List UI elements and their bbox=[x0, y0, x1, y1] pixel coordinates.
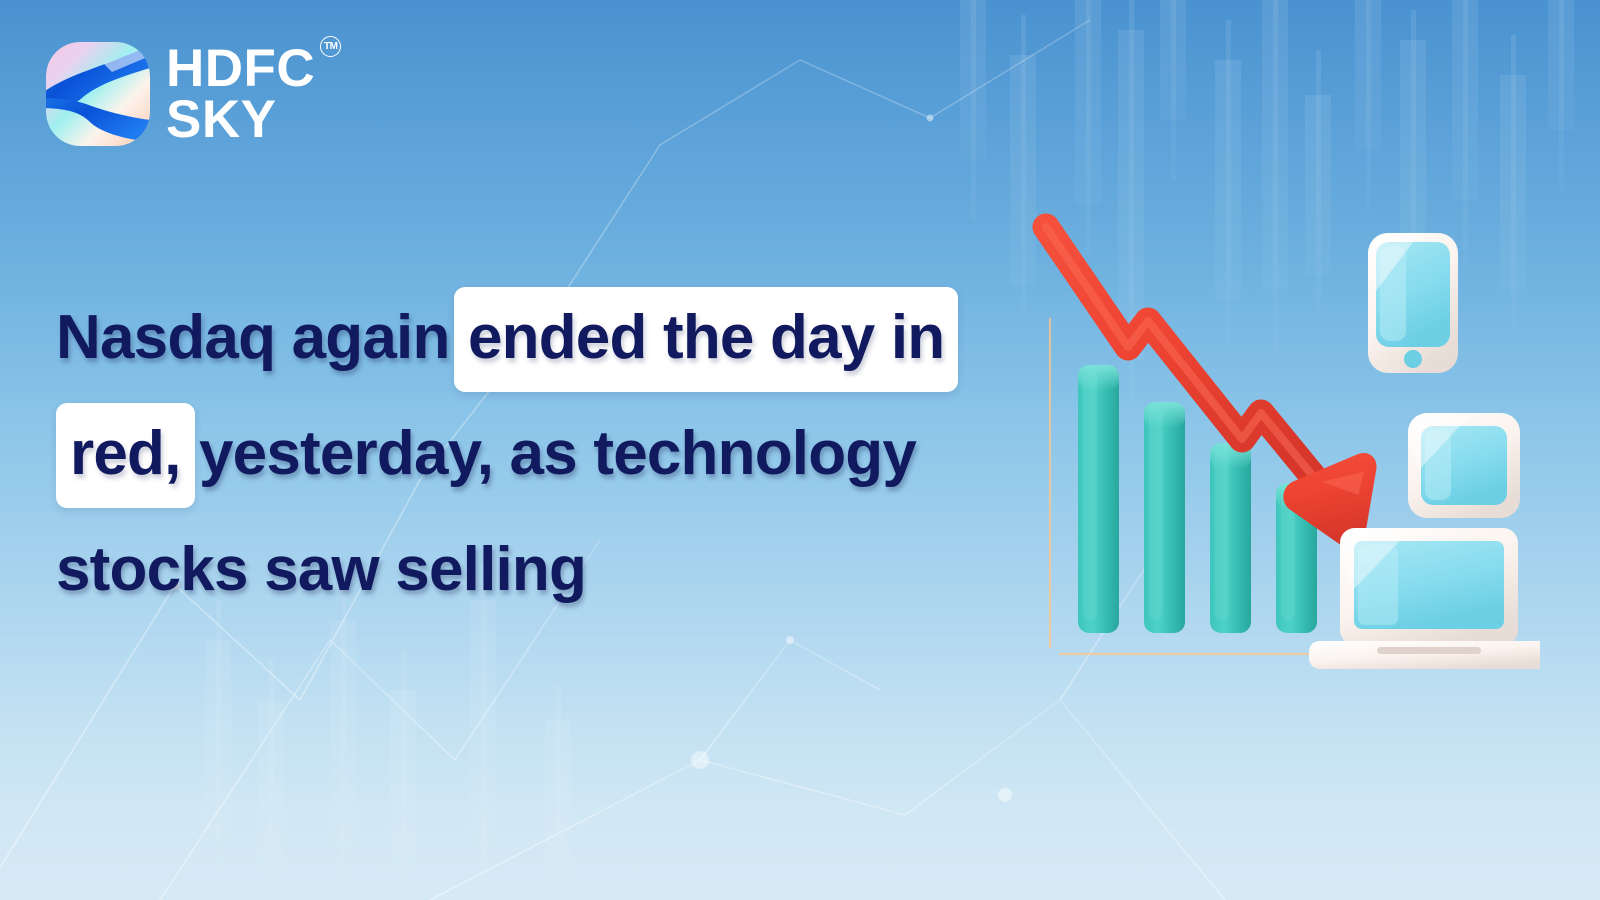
bar-1 bbox=[1078, 365, 1119, 633]
tablet-icon bbox=[1408, 413, 1520, 518]
bar-3 bbox=[1210, 443, 1251, 633]
brand-name-line2: SKY bbox=[166, 95, 315, 146]
brand-logo[interactable]: HDFC SKY TM bbox=[46, 42, 315, 146]
smartphone-icon bbox=[1368, 233, 1458, 373]
headline: Nasdaq again ended the day inred, yester… bbox=[56, 280, 1016, 628]
declining-stock-chart-illustration bbox=[1020, 195, 1540, 685]
trademark-icon: TM bbox=[320, 36, 341, 57]
hdfc-sky-swoosh-icon bbox=[46, 42, 150, 146]
brand-name-line1: HDFC bbox=[166, 44, 315, 95]
headline-highlight-segment: red, bbox=[56, 403, 195, 508]
laptop-icon bbox=[1309, 528, 1540, 669]
headline-line: red, yesterday, as technology bbox=[56, 396, 1016, 512]
promo-banner: HDFC SKY TM Nasdaq again ended the day i… bbox=[0, 0, 1600, 900]
headline-segment: Nasdaq again bbox=[56, 303, 450, 372]
headline-segment: yesterday, as technology bbox=[199, 419, 916, 488]
headline-line: stocks saw selling bbox=[56, 512, 1016, 628]
bar-2 bbox=[1144, 402, 1185, 633]
headline-line: Nasdaq again ended the day in bbox=[56, 280, 1016, 396]
chart-bars bbox=[1078, 365, 1317, 633]
brand-wordmark: HDFC SKY TM bbox=[166, 42, 315, 146]
headline-segment: stocks saw selling bbox=[56, 535, 586, 604]
headline-highlight-segment: ended the day in bbox=[454, 287, 958, 392]
